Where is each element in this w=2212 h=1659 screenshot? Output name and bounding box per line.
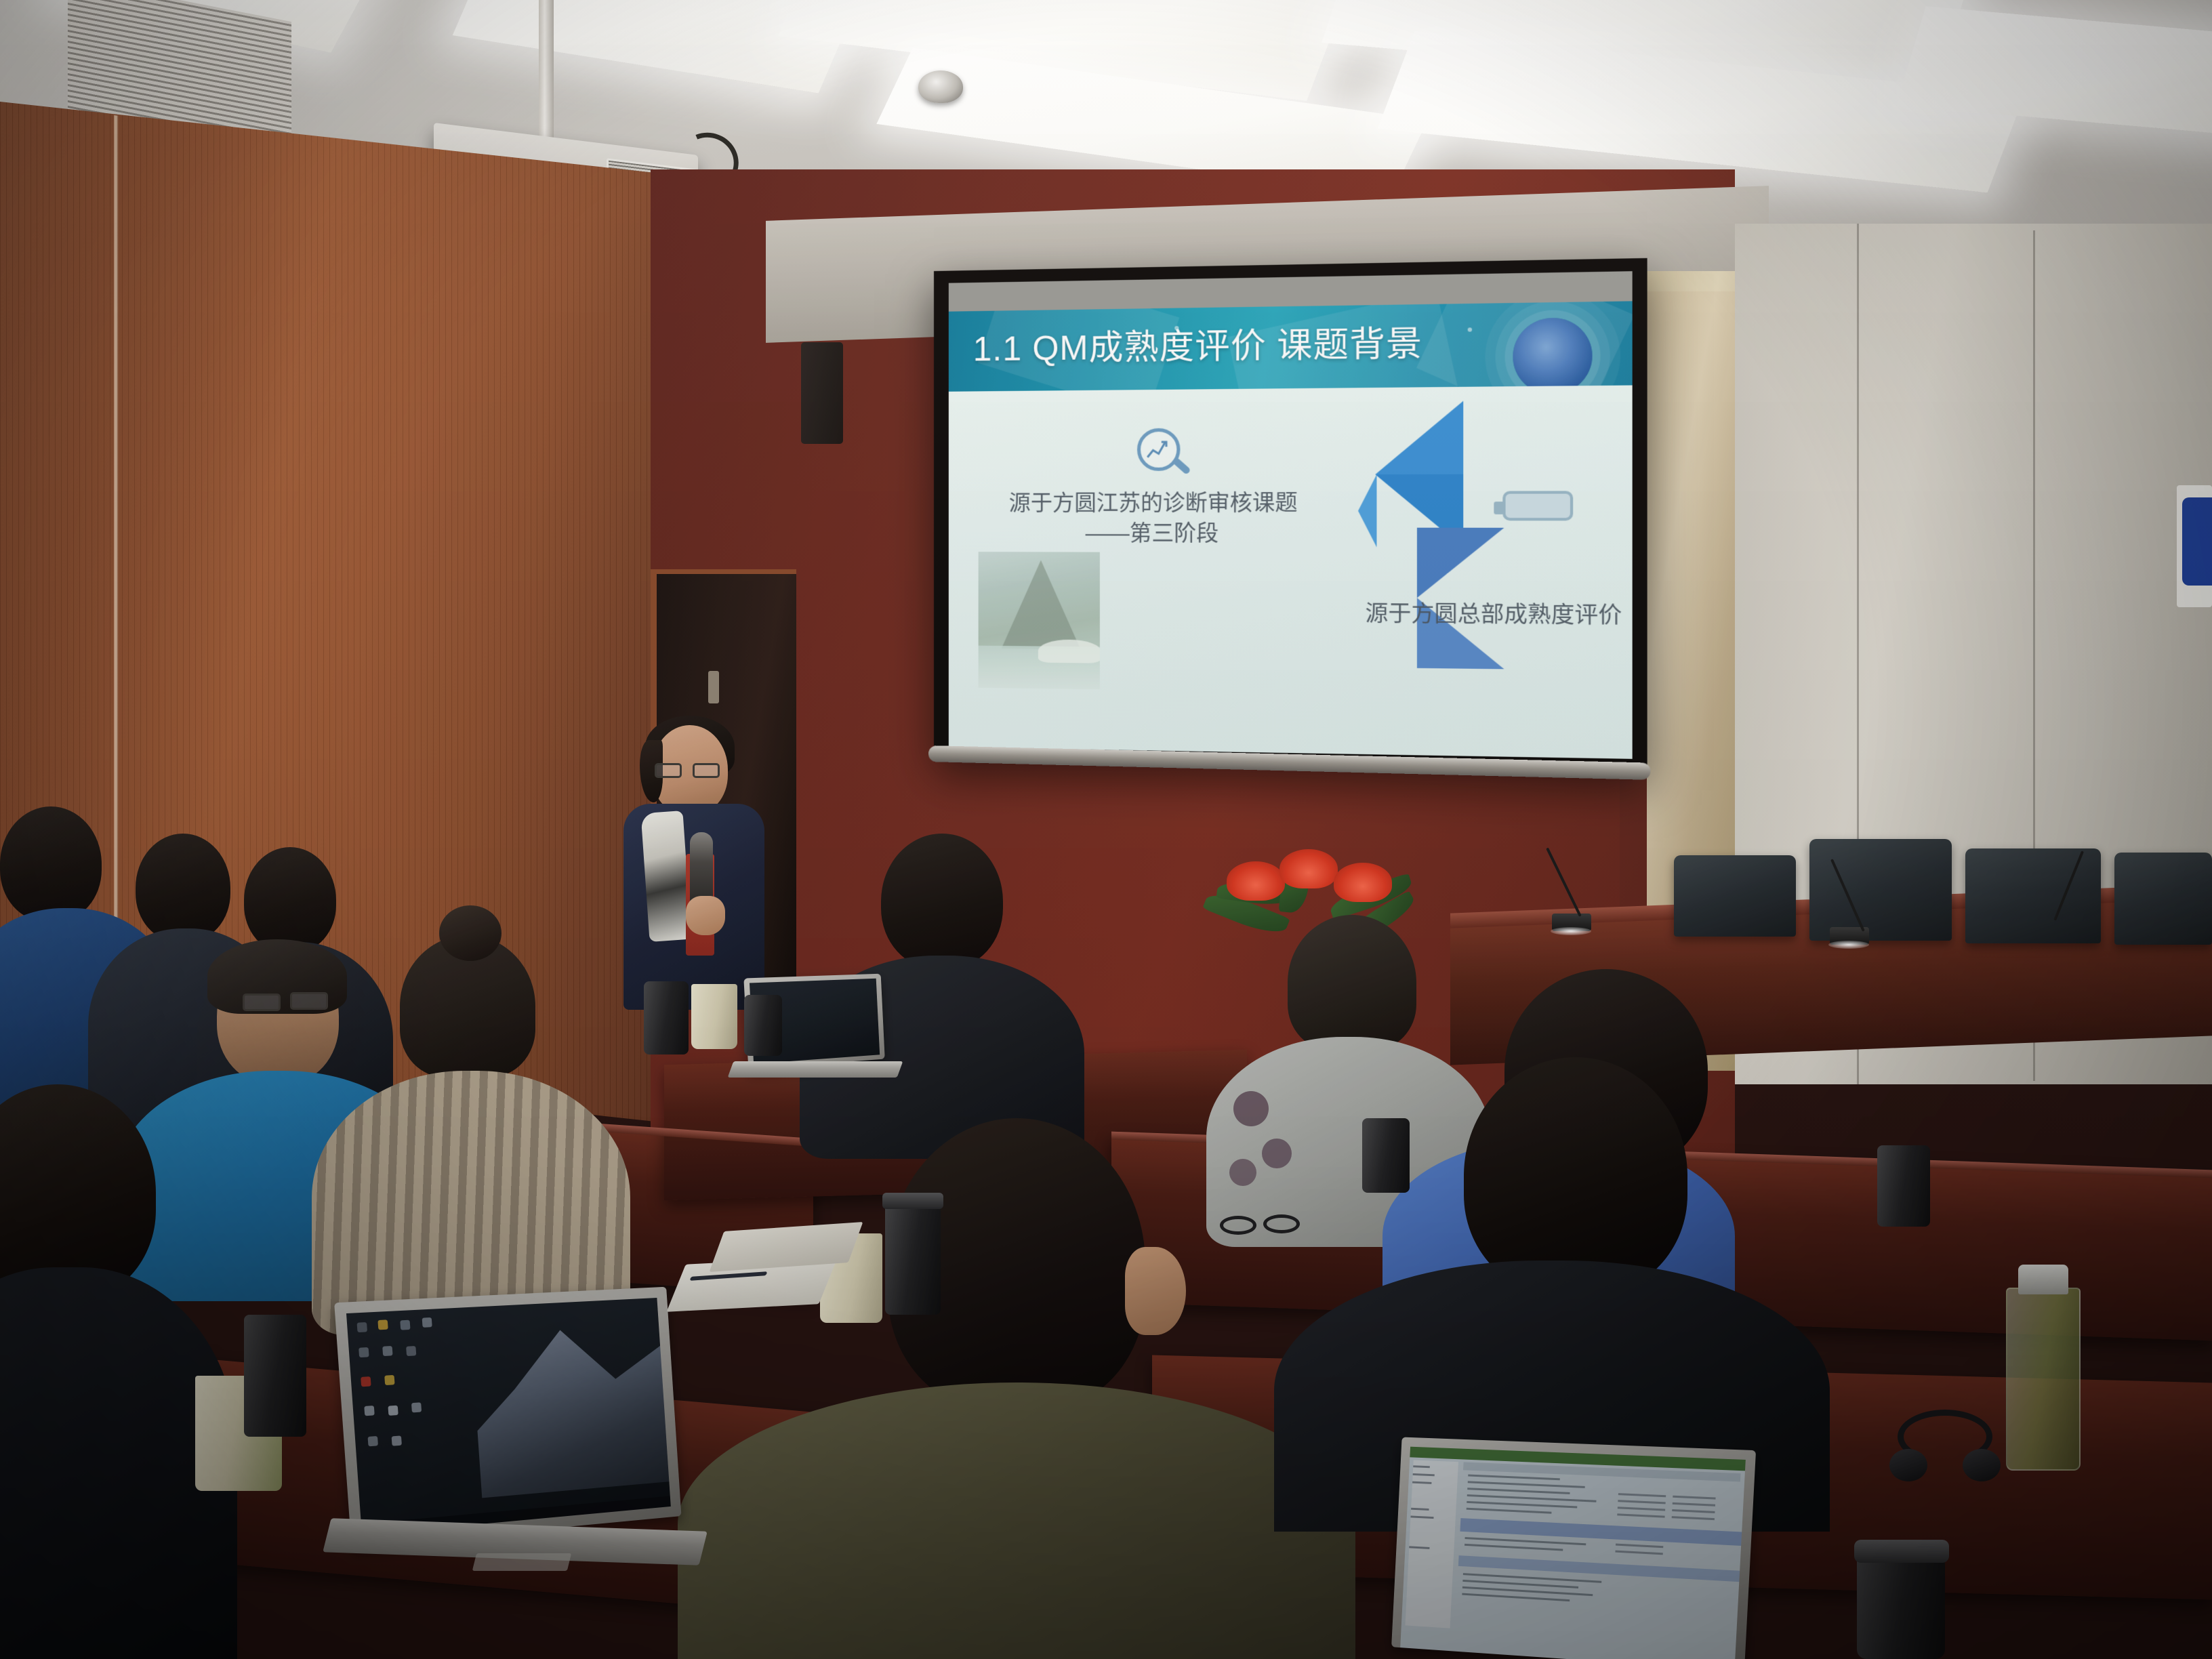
file-column-cell (1618, 1493, 1666, 1497)
thermos-lid[interactable] (1854, 1540, 1949, 1563)
file-column-cell (1673, 1496, 1715, 1500)
laptop-front-right[interactable] (1391, 1437, 1756, 1659)
desktop-icon[interactable] (422, 1317, 432, 1328)
over-ear-headphones[interactable] (1891, 1410, 2006, 1484)
globe-icon (1513, 317, 1592, 391)
flower-bloom (1227, 861, 1285, 901)
desktop-icon[interactable] (406, 1346, 416, 1356)
file-column-cell (1673, 1502, 1715, 1507)
desktop-icon[interactable] (377, 1319, 388, 1330)
attendee-striped-top (325, 942, 610, 1335)
file-row[interactable] (1468, 1481, 1585, 1488)
desktop-icon[interactable] (357, 1322, 367, 1332)
battery-icon (1502, 491, 1573, 520)
presenter-scarf (640, 811, 691, 942)
presenter-hand (686, 896, 725, 935)
file-column-cell (1616, 1544, 1663, 1549)
file-column-cell (1617, 1513, 1664, 1517)
thermos-flask[interactable] (244, 1315, 306, 1437)
banner-dot (1468, 327, 1472, 331)
laptop-screen (1400, 1447, 1746, 1659)
eyeglass-lens (1263, 1214, 1300, 1233)
eyeglasses-on-desk[interactable] (1220, 1213, 1308, 1236)
eyeglass-lens (243, 994, 281, 1011)
eyeglass-lens (693, 763, 720, 778)
thermos-flask[interactable] (1877, 1145, 1930, 1227)
file-row[interactable] (1465, 1544, 1563, 1551)
photo-mountain (1002, 560, 1081, 649)
smoke-detector-icon (918, 70, 963, 103)
file-row[interactable] (1467, 1494, 1597, 1502)
laptop-base[interactable] (728, 1061, 903, 1078)
selected-row-highlight[interactable] (1460, 1518, 1745, 1546)
presenter (610, 725, 779, 1010)
file-column-cell (1672, 1509, 1715, 1513)
thermos-flask[interactable] (885, 1200, 941, 1315)
landscape-photo-thumbnail (979, 552, 1100, 689)
floral-pattern (1229, 1159, 1256, 1186)
laptop-wallpaper-mountain (470, 1311, 670, 1498)
executive-chair[interactable] (1674, 855, 1796, 937)
floral-pattern (1233, 1091, 1269, 1126)
floral-pattern (1262, 1139, 1292, 1168)
attendee-head (1464, 1057, 1687, 1294)
projection-screen-surface: 1.1 QM成熟度评价 课题背景 (949, 271, 1633, 759)
attendee-foreground-left (0, 1084, 224, 1659)
attendee-hair-bun (439, 905, 501, 961)
executive-chair[interactable] (1809, 839, 1952, 941)
file-row[interactable] (1462, 1593, 1570, 1602)
projector-mount-pole (539, 0, 554, 142)
microphone-indicator-light (1828, 941, 1869, 949)
blue-wall-sign (2177, 485, 2212, 607)
thermos-flask[interactable] (644, 981, 689, 1054)
water-bottle[interactable] (2006, 1288, 2081, 1471)
file-row[interactable] (1467, 1488, 1570, 1494)
bottle-cap[interactable] (2018, 1265, 2068, 1294)
window-sidebar[interactable] (1405, 1460, 1458, 1628)
attendee-torso (678, 1382, 1355, 1659)
eyeglasses-icon (655, 763, 725, 778)
file-column-cell (1615, 1551, 1662, 1555)
slide-title: 1.1 QM成熟度评价 课题背景 (973, 316, 1423, 371)
desktop-icon[interactable] (382, 1346, 392, 1356)
projection-screen-assembly: 1.1 QM成熟度评价 课题背景 (934, 271, 1617, 800)
headphone-earcup (1889, 1449, 1927, 1481)
slide-left-line2: ——第三阶段 (991, 518, 1317, 549)
headphone-earcup (1963, 1449, 2001, 1481)
file-row[interactable] (1467, 1508, 1552, 1514)
desktop-icon[interactable] (411, 1402, 422, 1412)
photo-rock (1038, 639, 1100, 663)
file-row[interactable] (1467, 1501, 1577, 1509)
slide-left-line1: 源于方圆江苏的诊断审核课题 (991, 487, 1317, 518)
arrow-facet (1417, 528, 1504, 598)
desktop-icon[interactable] (364, 1406, 374, 1416)
chart-glyph (1146, 439, 1171, 460)
attendee-head (0, 806, 102, 922)
desktop-icon[interactable] (392, 1435, 402, 1446)
attendee-head (244, 847, 336, 953)
desktop-icon[interactable] (384, 1375, 394, 1385)
file-column-cell (1618, 1507, 1665, 1511)
thermos-flask[interactable] (744, 995, 782, 1056)
laptop-screen (346, 1298, 671, 1535)
executive-chair[interactable] (2114, 853, 2212, 945)
attendee-head (881, 834, 1003, 969)
thermos-flask[interactable] (1857, 1552, 1945, 1659)
slide-body: 源于方圆江苏的诊断审核课题 ——第三阶段 源于方圆总部成熟度评价 (949, 386, 1633, 759)
eyeglass-lens (290, 992, 328, 1010)
file-column-cell (1672, 1516, 1715, 1520)
selected-row-highlight[interactable] (1458, 1555, 1744, 1582)
wall-speaker (801, 342, 843, 444)
flower-bloom (1334, 863, 1392, 902)
presentation-slide: 1.1 QM成熟度评价 课题背景 (949, 271, 1633, 759)
door-handle[interactable] (708, 671, 719, 703)
slide-left-caption: 源于方圆江苏的诊断审核课题 ——第三阶段 (991, 487, 1317, 549)
eyeglass-lens (655, 763, 682, 778)
magnifier-handle (1172, 457, 1191, 475)
thermos-flask[interactable] (1362, 1118, 1410, 1193)
desktop-icon[interactable] (368, 1436, 378, 1446)
laptop-front-left[interactable] (334, 1287, 681, 1547)
attendee-ear (1125, 1247, 1186, 1335)
laptop-trackpad[interactable] (472, 1553, 571, 1571)
paper-cup[interactable] (691, 984, 737, 1049)
flower-bloom (1279, 849, 1338, 888)
file-row[interactable] (1468, 1475, 1560, 1481)
desktop-icon[interactable] (361, 1376, 371, 1387)
desktop-icon[interactable] (388, 1406, 398, 1416)
magnifier-chart-icon (1137, 428, 1190, 481)
arrow-facet (1375, 401, 1463, 474)
slide-right-caption: 源于方圆总部成熟度评价 (1366, 598, 1633, 631)
microphone-indicator-light (1551, 927, 1591, 935)
file-column-cell (1618, 1500, 1665, 1504)
eyeglass-lens (1220, 1216, 1256, 1235)
desktop-icon[interactable] (359, 1347, 369, 1357)
executive-chair[interactable] (1965, 848, 2101, 943)
projection-screen-frame: 1.1 QM成熟度评价 课题背景 (934, 258, 1647, 772)
desktop-icon[interactable] (400, 1320, 410, 1330)
arrow-facet (1358, 474, 1376, 547)
thermos-lid[interactable] (882, 1193, 943, 1209)
conference-room-photo: 1.1 QM成熟度评价 课题背景 (0, 0, 2212, 1659)
